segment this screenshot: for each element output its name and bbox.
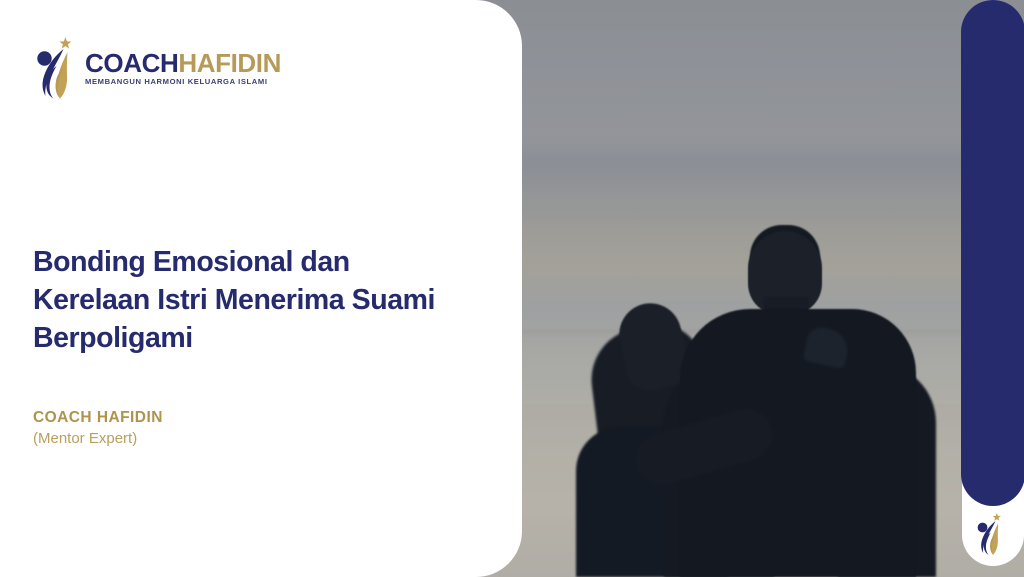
logo-tagline: MEMBANGUN HARMONI KELUARGA ISLAMI (85, 77, 281, 86)
byline-role: (Mentor Expert) (33, 429, 163, 449)
couple-silhouette (560, 147, 980, 577)
logo-name-coach: COACH (85, 48, 178, 78)
navy-accent-bar (961, 0, 1024, 506)
logo-name: COACHHAFIDIN (85, 50, 281, 76)
content-panel: COACHHAFIDIN MEMBANGUN HARMONI KELUARGA … (0, 0, 522, 577)
slide-canvas: COACHHAFIDIN MEMBANGUN HARMONI KELUARGA … (0, 0, 1024, 577)
person-star-icon (32, 36, 76, 100)
page-title: Bonding Emosional dan Kerelaan Istri Men… (33, 244, 463, 358)
byline: COACH HAFIDIN (Mentor Expert) (33, 408, 163, 449)
brand-logo: COACHHAFIDIN MEMBANGUN HARMONI KELUARGA … (32, 36, 281, 100)
logo-wordmark: COACHHAFIDIN MEMBANGUN HARMONI KELUARGA … (85, 50, 281, 86)
person-star-icon (974, 512, 1004, 556)
logo-name-hafidin: HAFIDIN (178, 48, 281, 78)
byline-name: COACH HAFIDIN (33, 408, 163, 429)
